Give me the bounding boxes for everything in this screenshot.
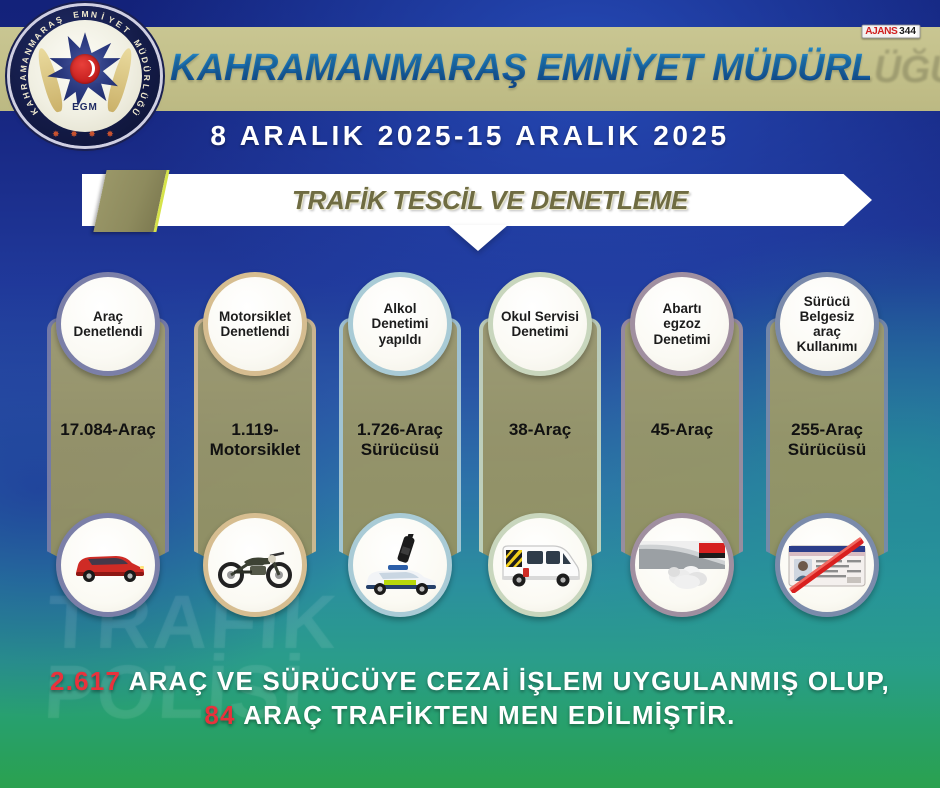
stat-title-label: MotorsikletDenetlendi	[213, 309, 297, 339]
stat-title-bubble[interactable]: AbartıegzozDenetimi	[630, 272, 734, 376]
stat-column-6: SürücüBelgesiz araçKullanımı255-AraçSürü…	[757, 268, 897, 620]
stat-title-bubble[interactable]: MotorsikletDenetlendi	[203, 272, 307, 376]
emblem-ring-char: N	[90, 9, 98, 20]
banner-ribbon-fold	[93, 170, 166, 232]
stat-title-bubble[interactable]: AlkolDenetimiyapıldı	[348, 272, 452, 376]
stats-columns: AraçDenetlendi17.084-Araç MotorsikletDen…	[0, 268, 940, 620]
emblem-egm-label: EGM	[28, 102, 142, 113]
ajans344-logo-icon[interactable]: AJANS 344	[861, 25, 920, 39]
stat-column-1: AraçDenetlendi17.084-Araç	[38, 268, 178, 620]
infographic-poster: TRAFİK POLİSİ KAHRAMANMARAŞ EMNİYET MÜDÜ…	[0, 0, 940, 788]
exhaust-pipe-smoke-icon	[630, 513, 734, 617]
page-title: KAHRAMANMARAŞ EMNİYET MÜDÜRLÜĞÜ	[170, 36, 870, 100]
section-banner: TRAFİK TESCİL VE DENETLEME	[0, 168, 940, 250]
stat-column-5: AbartıegzozDenetimi45-Araç	[612, 268, 752, 620]
stat-column-3: AlkolDenetimiyapıldı1.726-AraçSürücüsü	[330, 268, 470, 620]
ajans-logo-part2: 344	[898, 26, 917, 36]
emblem-ring-char: A	[18, 75, 28, 81]
emblem-ring-char: İ	[100, 11, 105, 21]
red-suv-icon	[56, 513, 160, 617]
emblem-ring-char: R	[142, 75, 152, 81]
emblem-ring-char: E	[72, 9, 79, 20]
stat-title-label: AlkolDenetimiyapıldı	[365, 301, 434, 346]
footer-penalty-count: 2.617	[50, 666, 121, 696]
stat-title-bubble[interactable]: SürücüBelgesiz araçKullanımı	[775, 272, 879, 376]
stat-title-label: AbartıegzozDenetimi	[647, 301, 716, 346]
footer-summary: 2.617 ARAÇ VE SÜRÜCÜYE CEZAİ İŞLEM UYGUL…	[0, 664, 940, 733]
emblem-ring-char: Ü	[141, 65, 152, 72]
police-car-bottle-icon	[348, 513, 452, 617]
footer-banned-count: 84	[204, 700, 235, 730]
stat-value: 38-Araç	[470, 420, 610, 440]
stat-title-label: SürücüBelgesiz araçKullanımı	[780, 294, 874, 354]
stat-column-4: Okul ServisiDenetimi38-Araç	[470, 268, 610, 620]
footer-line-1-text: ARAÇ VE SÜRÜCÜYE CEZAİ İŞLEM UYGULANMIŞ …	[129, 666, 890, 696]
school-minibus-icon	[488, 513, 592, 617]
stat-column-2: MotorsikletDenetlendi1.119-Motorsiklet	[185, 268, 325, 620]
stat-value: 1.119-Motorsiklet	[185, 420, 325, 459]
stat-title-label: AraçDenetlendi	[67, 309, 148, 339]
stat-title-bubble[interactable]: AraçDenetlendi	[56, 272, 160, 376]
emblem-ring-char: L	[141, 83, 152, 90]
emblem-ring-char: D	[139, 56, 150, 65]
drivers-license-icon	[775, 513, 879, 617]
stat-value: 1.726-AraçSürücüsü	[330, 420, 470, 459]
footer-line-2-text: ARAÇ TRAFİKTEN MEN EDİLMİŞTİR.	[243, 700, 735, 730]
stat-value: 45-Araç	[612, 420, 752, 440]
date-range-label: 8 ARALIK 2025-15 ARALIK 2025	[0, 120, 940, 152]
motorcycle-icon	[203, 513, 307, 617]
stat-title-bubble[interactable]: Okul ServisiDenetimi	[488, 272, 592, 376]
emblem-ring-char: M	[81, 9, 88, 19]
stat-value: 17.084-Araç	[38, 420, 178, 440]
ajans-logo-part1: AJANS	[865, 26, 897, 36]
emblem-ring-char: Ü	[138, 91, 149, 100]
banner-shape: TRAFİK TESCİL VE DENETLEME	[82, 174, 872, 226]
banner-notch-arrow-icon	[448, 225, 508, 251]
emblem-inner-disc: EGM	[28, 20, 142, 132]
stat-value: 255-AraçSürücüsü	[757, 420, 897, 459]
banner-title: TRAFİK TESCİL VE DENETLEME	[266, 185, 688, 216]
footer-line-2: 84 ARAÇ TRAFİKTEN MEN EDİLMİŞTİR.	[0, 698, 940, 732]
footer-line-1: 2.617 ARAÇ VE SÜRÜCÜYE CEZAİ İŞLEM UYGUL…	[0, 664, 940, 698]
stat-title-label: Okul ServisiDenetimi	[495, 309, 585, 339]
